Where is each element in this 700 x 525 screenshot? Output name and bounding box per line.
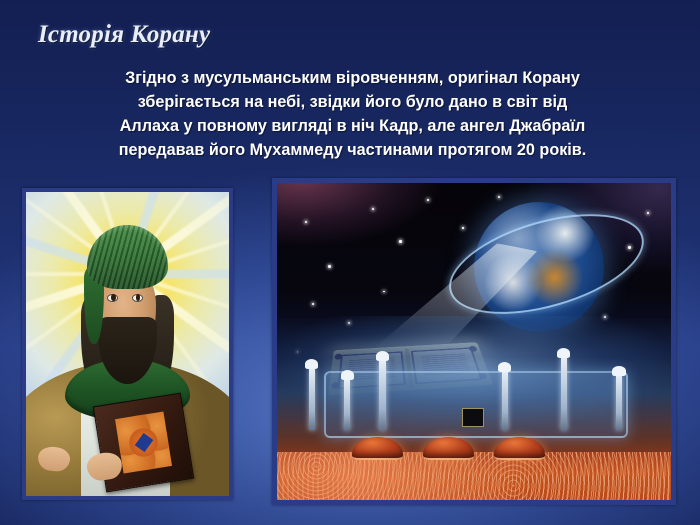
body-line-3: Аллаха у повному вигляді в ніч Кадр, але… (30, 114, 675, 138)
green-turban (87, 225, 168, 289)
kaaba (462, 408, 484, 427)
nebula-haze-left (277, 183, 442, 246)
figure-group (26, 192, 229, 496)
prophet-muhammad-portrait-image (22, 188, 233, 500)
body-line-4: передавав його Мухаммеду частинами протя… (30, 138, 675, 162)
page-title: Історія Корану (38, 20, 210, 50)
pilgrim-crowd (277, 452, 671, 500)
mosque-courtyard (324, 371, 627, 438)
book-emblem-icon (115, 412, 172, 473)
slide-canvas: Історія Корану Згідно з мусульманським в… (0, 0, 700, 525)
eye-left (107, 294, 118, 302)
portrait-artwork (26, 192, 229, 496)
eye-right (132, 294, 143, 302)
masjid-al-haram (277, 316, 671, 500)
body-paragraph: Згідно з мусульманським віровченням, ори… (30, 66, 675, 162)
quran-earth-kaaba-image (272, 178, 676, 505)
composite-artwork (277, 183, 671, 500)
body-line-1: Згідно з мусульманським віровченням, ори… (30, 66, 675, 90)
body-line-2: зберігається на небі, звідки його було д… (30, 90, 675, 114)
